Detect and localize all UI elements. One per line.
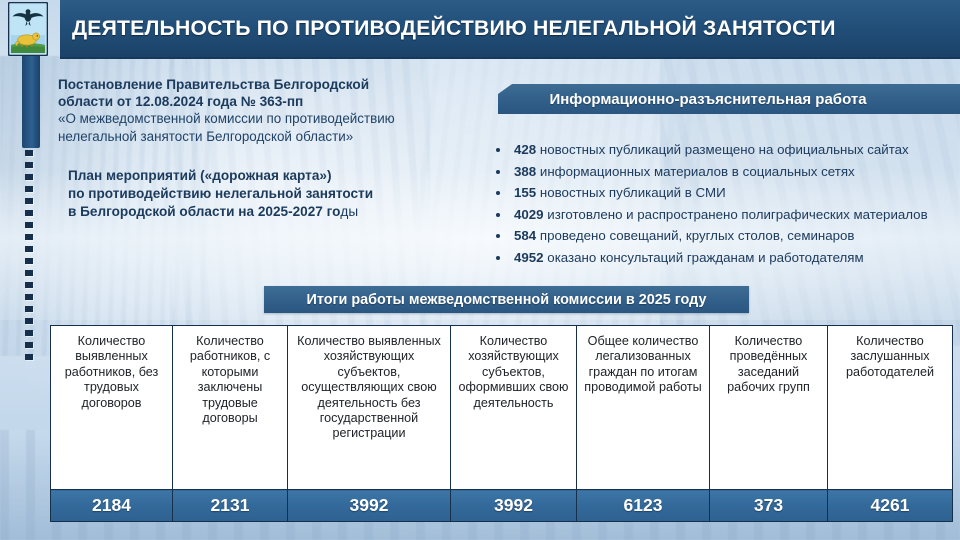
bullet-text: изготовлено и распространено полиграфиче… [547,207,927,222]
table-value-cell: 373 [710,490,828,522]
results-banner: Итоги работы межведомственной комиссии в… [264,286,749,313]
decree-text-block: Постановление Правительства Белгородской… [58,76,478,221]
bullet-number: 388 [514,164,536,179]
table-header-cell: Количество выявленных хозяйствующих субъ… [288,326,451,490]
table-value-cell: 3992 [288,490,451,522]
list-item: 584 проведено совещаний, круглых столов,… [488,228,960,244]
bullet-text: оказано консультаций гражданам и работод… [547,250,863,265]
belgorod-coat-of-arms-icon [8,2,48,56]
table-value-cell: 3992 [451,490,577,522]
bullet-number: 4029 [514,207,544,222]
bullet-text: новостных публикаций в СМИ [540,185,726,200]
roadmap-line-3: в Белгородской области на 2025-2027 годы [68,203,478,221]
roadmap-line-3-head: в Белгородской области на 2025-2027 го [68,204,340,219]
list-item: 155 новостных публикаций в СМИ [488,185,960,201]
results-banner-title: Итоги работы межведомственной комиссии в… [307,292,707,308]
list-item: 4029 изготовлено и распространено полигр… [488,207,960,223]
table-header-cell: Количество выявленных работников, без тр… [51,326,173,490]
emblem-stand [22,56,40,148]
bullet-text: информационных материалов в социальных с… [540,164,855,179]
page-header-bar: ДЕЯТЕЛЬНОСТЬ ПО ПРОТИВОДЕЙСТВИЮ НЕЛЕГАЛЬ… [60,0,960,59]
dotted-vertical-guide [24,150,34,365]
list-item: 4952 оказано консультаций гражданам и ра… [488,250,960,266]
decree-line-1: Постановление Правительства Белгородской [58,76,478,93]
roadmap-line-1: План мероприятий («дорожная карта») [68,167,478,185]
emblem-container [8,2,52,58]
results-table: Количество выявленных работников, без тр… [50,325,953,522]
table-header-cell: Общее количество легализованных граждан … [577,326,710,490]
roadmap-line-3-tail: ды [340,204,358,219]
table-header-row: Количество выявленных работников, без тр… [51,326,953,490]
decree-line-4: нелегальной занятости Белгородской облас… [58,128,478,146]
table-value-cell: 2184 [51,490,173,522]
bullet-number: 4952 [514,250,544,265]
decree-line-3: «О межведомственной комиссии по противод… [58,110,478,128]
table-header-cell: Количество заслушанных работодателей [828,326,953,490]
table-value-cell: 6123 [577,490,710,522]
info-work-banner-title: Информационно-разъяснительная работа [549,91,908,108]
info-work-bullet-list: 428 новостных публикаций размещено на оф… [488,142,960,271]
table-value-row: 2184 2131 3992 3992 6123 373 4261 [51,490,953,522]
bullet-number: 584 [514,228,536,243]
table-header-cell: Количество хозяйствующих субъектов, офор… [451,326,577,490]
page-title: ДЕЯТЕЛЬНОСТЬ ПО ПРОТИВОДЕЙСТВИЮ НЕЛЕГАЛЬ… [72,16,836,41]
bullet-text: проведено совещаний, круглых столов, сем… [540,228,855,243]
list-item: 428 новостных публикаций размещено на оф… [488,142,960,158]
decree-line-2: области от 12.08.2024 года № 363-пп [58,93,478,110]
roadmap-text-block: План мероприятий («дорожная карта») по п… [58,167,478,221]
table-value-cell: 2131 [173,490,288,522]
table-header-cell: Количество работников, с которыми заключ… [173,326,288,490]
bullet-text: новостных публикаций размещено на официа… [540,142,909,157]
bullet-number: 428 [514,142,536,157]
list-item: 388 информационных материалов в социальн… [488,164,960,180]
roadmap-line-2: по противодействию нелегальной занятости [68,185,478,203]
table-header-cell: Количество проведённых заседаний рабочих… [710,326,828,490]
bullet-number: 155 [514,185,536,200]
table-value-cell: 4261 [828,490,953,522]
info-work-banner: Информационно-разъяснительная работа [498,84,960,114]
